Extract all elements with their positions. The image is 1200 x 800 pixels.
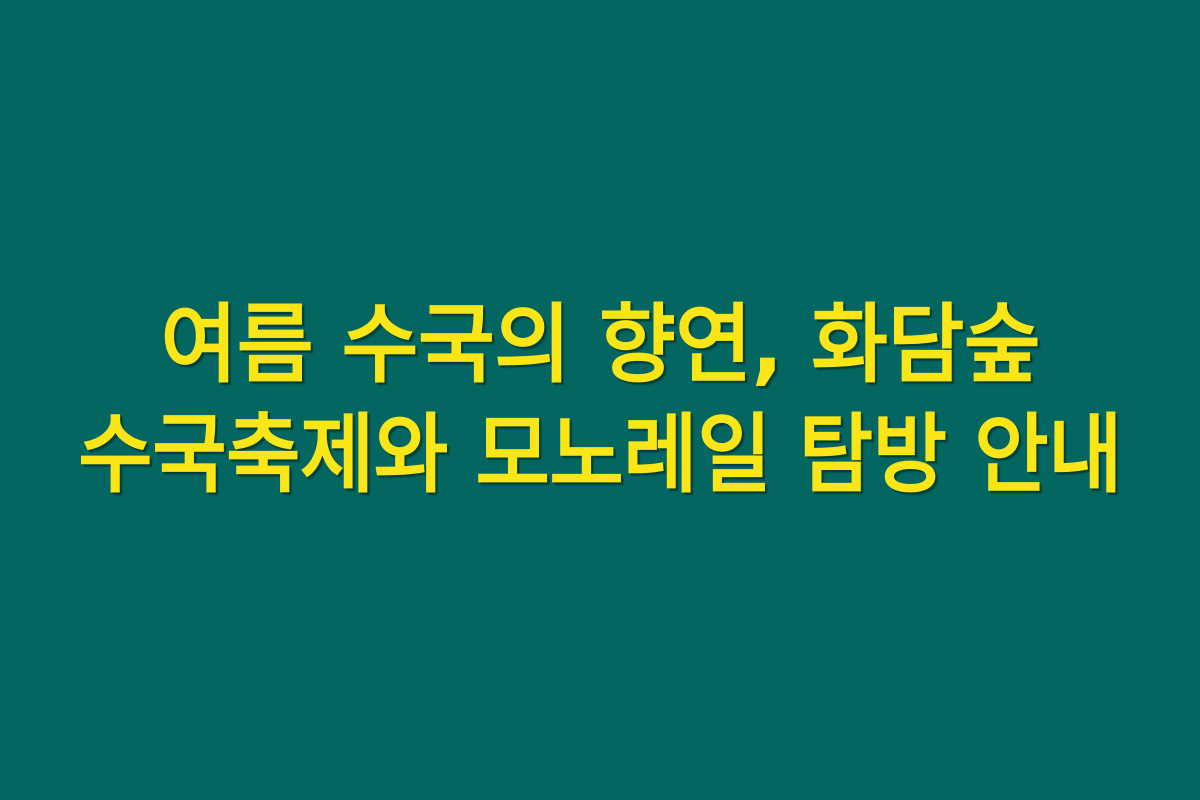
headline-block: 여름 수국의 향연, 화담숲 수국축제와 모노레일 탐방 안내 (0, 290, 1200, 510)
headline-line-2: 수국축제와 모노레일 탐방 안내 (78, 400, 1122, 510)
headline-line-1: 여름 수국의 향연, 화담숲 (160, 290, 1040, 400)
title-card: 여름 수국의 향연, 화담숲 수국축제와 모노레일 탐방 안내 (0, 0, 1200, 800)
